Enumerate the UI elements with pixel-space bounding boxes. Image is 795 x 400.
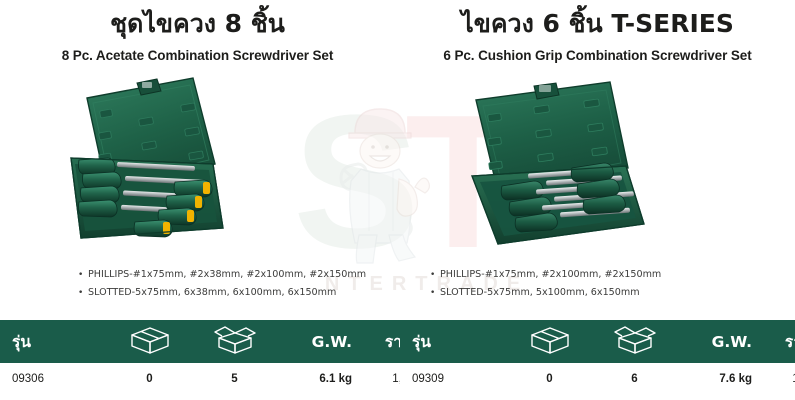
- spec-row: • PHILLIPS - #1x75mm, #2x100mm, #2x150mm: [430, 266, 795, 284]
- spec-label: SLOTTED: [440, 284, 484, 301]
- table-header-row: รุ่น: [0, 320, 433, 363]
- spec-list-right: • PHILLIPS - #1x75mm, #2x100mm, #2x150mm…: [400, 266, 795, 302]
- spec-values: 5x75mm, 5x100mm, 6x150mm: [487, 284, 639, 301]
- cell-model: 09309: [400, 363, 507, 394]
- cell-price: 1,050: [766, 363, 795, 394]
- th-inner-pack: [107, 320, 192, 363]
- product-title-th-left: ชุดไขควง 8 ชิ้น: [0, 10, 395, 39]
- th-model: รุ่น: [400, 320, 507, 363]
- th-price: ราคา: [766, 320, 795, 363]
- cell-inner-pack: 0: [107, 363, 192, 394]
- closed-box-icon: [528, 325, 572, 359]
- product-table-left: รุ่น: [0, 320, 433, 394]
- table-body: 09309 0 6 7.6 kg 1,050: [400, 363, 795, 394]
- spec-row: • SLOTTED - 5x75mm, 6x38mm, 6x100mm, 6x1…: [78, 284, 395, 302]
- catalog-page: S T: [0, 0, 795, 400]
- bullet-icon: •: [430, 267, 440, 284]
- spec-label: SLOTTED: [88, 284, 132, 301]
- cell-gross-weight: 7.6 kg: [677, 363, 766, 394]
- spec-values: #1x75mm, #2x38mm, #2x100mm, #2x150mm: [133, 266, 366, 283]
- th-outer-pack: [192, 320, 277, 363]
- product-table-right: รุ่น: [400, 320, 795, 394]
- product-panel-left: ชุดไขควง 8 ชิ้น 8 Pc. Acetate Combinatio…: [0, 0, 395, 400]
- th-inner-pack: [507, 320, 592, 363]
- cell-gross-weight: 6.1 kg: [277, 363, 366, 394]
- th-outer-pack: [592, 320, 677, 363]
- cell-outer-pack: 5: [192, 363, 277, 394]
- product-panel-right: ไขควง 6 ชิ้น T-SERIES 6 Pc. Cushion Grip…: [400, 0, 795, 400]
- table-row: 09309 0 6 7.6 kg 1,050: [400, 363, 795, 394]
- screwdriver-set-case-icon-right: [458, 72, 738, 257]
- spec-label: PHILLIPS: [440, 266, 481, 283]
- product-title-en-left: 8 Pc. Acetate Combination Screwdriver Se…: [0, 48, 395, 63]
- bullet-icon: •: [430, 285, 440, 302]
- table-body: 09306 0 5 6.1 kg 1,190: [0, 363, 433, 394]
- spec-values: 5x75mm, 6x38mm, 6x100mm, 6x150mm: [135, 284, 336, 301]
- product-title-th-right: ไขควง 6 ชิ้น T-SERIES: [400, 10, 795, 39]
- cell-outer-pack: 6: [592, 363, 677, 394]
- cell-inner-pack: 0: [507, 363, 592, 394]
- table-header: รุ่น: [400, 320, 795, 363]
- table-header: รุ่น: [0, 320, 433, 363]
- th-gross-weight: G.W.: [677, 320, 766, 363]
- bullet-icon: •: [78, 267, 88, 284]
- product-title-en-right: 6 Pc. Cushion Grip Combination Screwdriv…: [400, 48, 795, 63]
- spec-row: • PHILLIPS - #1x75mm, #2x38mm, #2x100mm,…: [78, 266, 395, 284]
- product-image-right: [400, 72, 795, 262]
- th-gross-weight: G.W.: [277, 320, 366, 363]
- product-image-left: [0, 72, 395, 262]
- spec-list-left: • PHILLIPS - #1x75mm, #2x38mm, #2x100mm,…: [0, 266, 395, 302]
- th-model: รุ่น: [0, 320, 107, 363]
- open-box-icon: [213, 325, 257, 359]
- bullet-icon: •: [78, 285, 88, 302]
- screwdriver-set-case-icon-left: [63, 72, 333, 257]
- spec-row: • SLOTTED - 5x75mm, 5x100mm, 6x150mm: [430, 284, 795, 302]
- table-row: 09306 0 5 6.1 kg 1,190: [0, 363, 433, 394]
- open-box-icon: [613, 325, 657, 359]
- spec-label: PHILLIPS: [88, 266, 129, 283]
- closed-box-icon: [128, 325, 172, 359]
- table-header-row: รุ่น: [400, 320, 795, 363]
- spec-values: #1x75mm, #2x100mm, #2x150mm: [485, 266, 662, 283]
- cell-model: 09306: [0, 363, 107, 394]
